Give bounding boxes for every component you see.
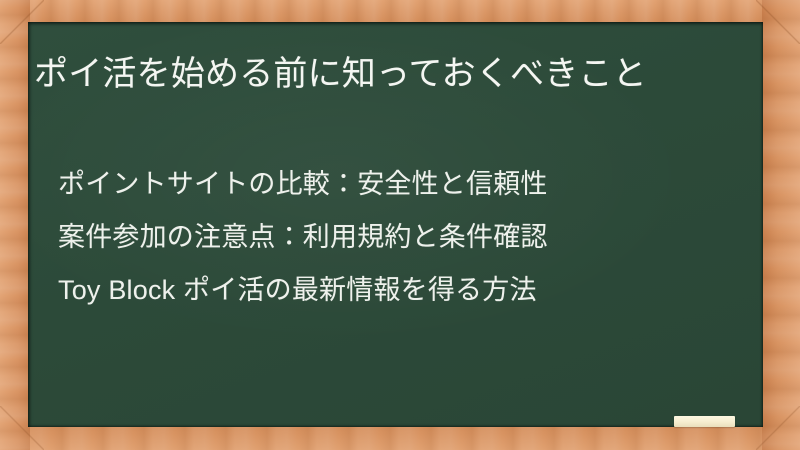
frame-rail-right [762,0,800,450]
list-item: ポイントサイトの比較：安全性と信頼性 [58,158,718,211]
slide-topic-list: ポイントサイトの比較：安全性と信頼性 案件参加の注意点：利用規約と条件確認 To… [58,158,718,317]
chalkboard-slide: ポイ活を始める前に知っておくべきこと ポイントサイトの比較：安全性と信頼性 案件… [0,0,800,450]
list-item: Toy Block ポイ活の最新情報を得る方法 [58,264,718,317]
chalk-stick-icon [674,416,735,427]
slide-title: ポイ活を始める前に知っておくべきこと [34,51,740,98]
list-item: 案件参加の注意点：利用規約と条件確認 [58,211,718,264]
chalkboard-surface: ポイ活を始める前に知っておくべきこと ポイントサイトの比較：安全性と信頼性 案件… [28,22,763,427]
frame-rail-left [0,0,30,450]
